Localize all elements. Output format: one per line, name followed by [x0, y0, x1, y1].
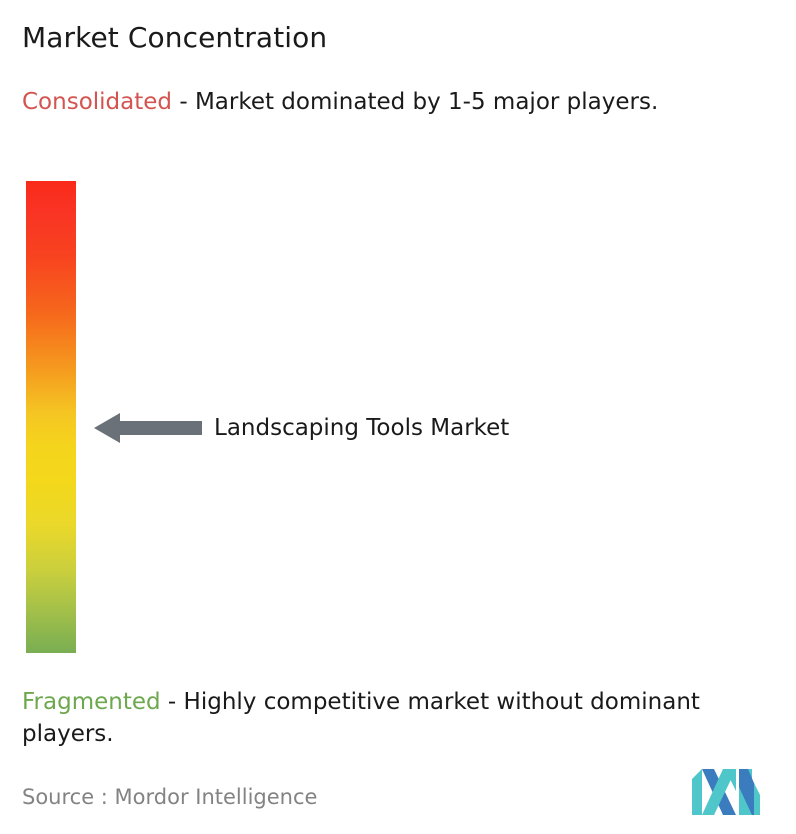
page-title: Market Concentration [22, 20, 762, 56]
legend-key-consolidated: Consolidated [22, 89, 172, 115]
legend-key-fragmented: Fragmented [22, 689, 161, 715]
market-concentration-infographic: Market Concentration Consolidated - Mark… [0, 0, 796, 834]
legend-consolidated: Consolidated - Market dominated by 1-5 m… [22, 86, 784, 118]
market-marker: Landscaping Tools Market [94, 411, 509, 445]
legend-fragmented: Fragmented - Highly competitive market w… [22, 686, 784, 750]
mordor-intelligence-logo-icon [692, 769, 760, 815]
legend-description-consolidated: - Market dominated by 1-5 major players. [179, 89, 658, 115]
mordor-intelligence-logo [692, 769, 760, 815]
left-arrow-icon [94, 411, 202, 445]
market-marker-label: Landscaping Tools Market [214, 414, 509, 442]
source-attribution: Source : Mordor Intelligence [22, 783, 317, 811]
legend-separator-fragmented [161, 689, 168, 715]
concentration-scale-bar [26, 181, 76, 653]
